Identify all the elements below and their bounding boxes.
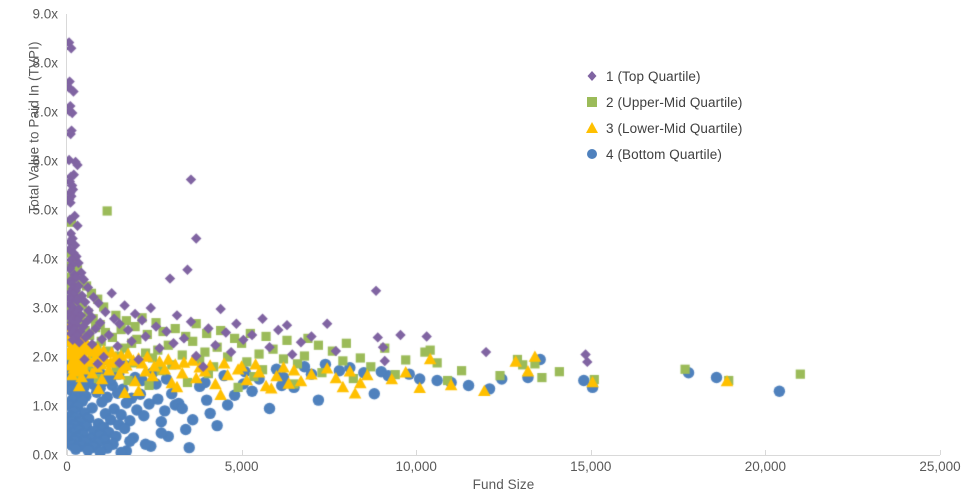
legend-item-label: 4 (Bottom Quartile): [606, 147, 722, 162]
y-axis-title: Total Value to Paid In (TVPI): [27, 0, 42, 258]
y-tick-label: 3.0x: [2, 301, 58, 316]
x-tick-mark: [591, 450, 592, 455]
x-tick-label: 5,000: [225, 459, 259, 474]
x-tick-mark: [416, 450, 417, 455]
y-tick-label: 5.0x: [2, 203, 58, 218]
x-tick-label: 0: [63, 459, 71, 474]
legend-item-label: 3 (Lower-Mid Quartile): [606, 121, 743, 136]
legend-item[interactable]: 4 (Bottom Quartile): [583, 141, 813, 167]
y-tick-label: 1.0x: [2, 399, 58, 414]
y-tick-label: 0.0x: [2, 448, 58, 463]
y-tick-label: 4.0x: [2, 252, 58, 267]
x-tick-label: 10,000: [396, 459, 437, 474]
x-tick-mark: [765, 450, 766, 455]
x-axis-line: [67, 455, 940, 456]
diamond-marker-icon: [583, 67, 601, 85]
x-axis-title: Fund Size: [67, 477, 940, 492]
x-tick-mark: [242, 450, 243, 455]
x-tick-mark: [940, 450, 941, 455]
legend-item-label: 2 (Upper-Mid Quartile): [606, 95, 743, 110]
y-tick-label: 2.0x: [2, 350, 58, 365]
triangle-marker-icon: [583, 119, 601, 137]
y-tick-label: 7.0x: [2, 105, 58, 120]
legend-item-label: 1 (Top Quartile): [606, 69, 701, 84]
legend-item[interactable]: 2 (Upper-Mid Quartile): [583, 89, 813, 115]
x-tick-label: 25,000: [919, 459, 960, 474]
chart-legend: 1 (Top Quartile)2 (Upper-Mid Quartile)3 …: [583, 63, 813, 167]
legend-item[interactable]: 1 (Top Quartile): [583, 63, 813, 89]
legend-item[interactable]: 3 (Lower-Mid Quartile): [583, 115, 813, 141]
x-tick-mark: [67, 450, 68, 455]
square-marker-icon: [583, 93, 601, 111]
x-tick-label: 20,000: [745, 459, 786, 474]
y-tick-label: 6.0x: [2, 154, 58, 169]
y-tick-label: 8.0x: [2, 56, 58, 71]
y-tick-label: 9.0x: [2, 7, 58, 22]
circle-marker-icon: [583, 145, 601, 163]
x-tick-label: 15,000: [570, 459, 611, 474]
scatter-chart: Total Value to Paid In (TVPI) 0.0x1.0x2.…: [0, 0, 968, 498]
